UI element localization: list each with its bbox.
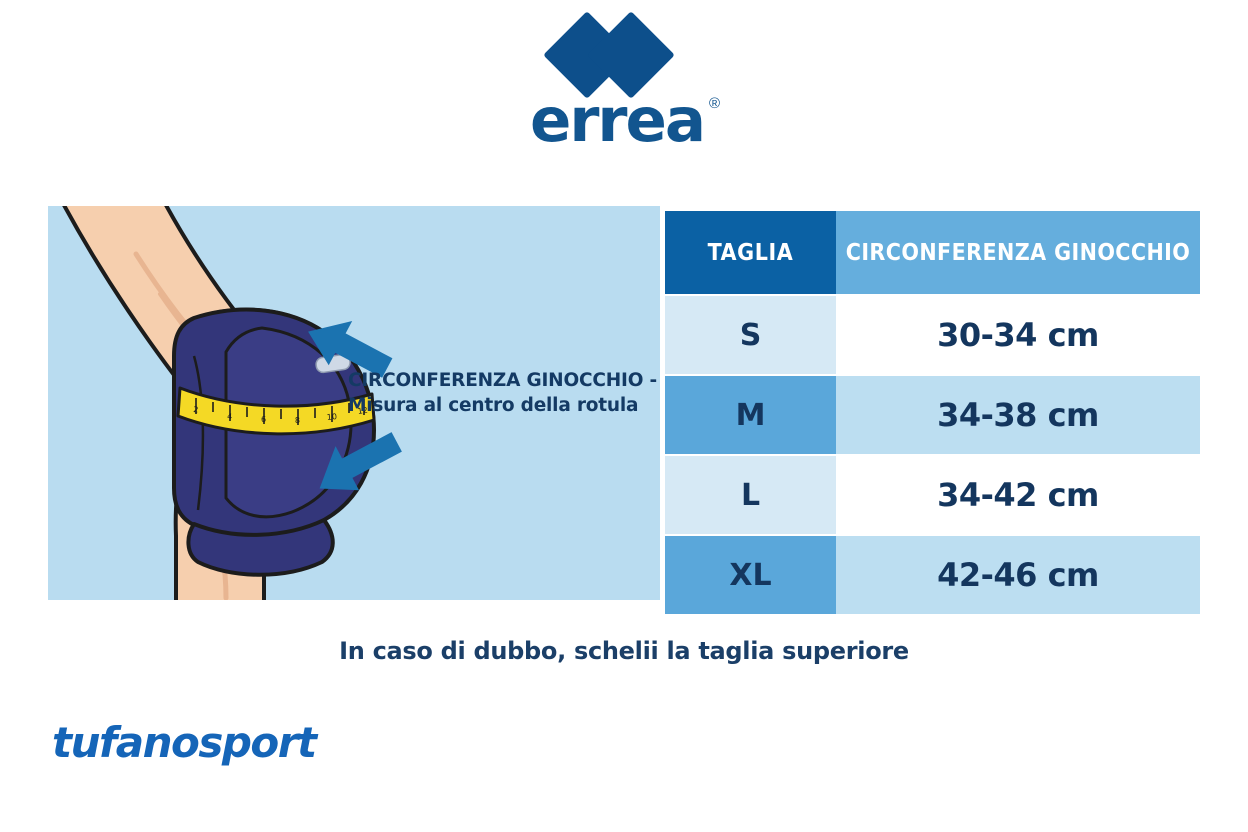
cell-size-xl: XL	[665, 536, 836, 614]
size-chart-table: TAGLIA CIRCONFERENZA GINOCCHIO S 30-34 c…	[665, 209, 1200, 616]
brand-wordmark: errea®	[530, 90, 718, 151]
header-cell-size: TAGLIA	[665, 211, 836, 294]
cell-size-s: S	[665, 296, 836, 374]
callout-line-1: CIRCONFERENZA GINOCCHIO -	[348, 368, 658, 393]
errea-double-diamond-icon	[544, 24, 704, 86]
cell-value-m: 34-38 cm	[836, 376, 1200, 454]
cell-value-s: 30-34 cm	[836, 296, 1200, 374]
sizing-advice-note: In caso di dubbo, schelii la taglia supe…	[0, 637, 1248, 665]
shop-brand-logo: tufanosport	[52, 718, 316, 767]
svg-text:6: 6	[261, 415, 266, 424]
table-header-row: TAGLIA CIRCONFERENZA GINOCCHIO	[665, 211, 1200, 294]
table-row: M 34-38 cm	[665, 376, 1200, 454]
svg-text:2: 2	[193, 405, 199, 414]
cell-size-l: L	[665, 456, 836, 534]
callout-line-2: Misura al centro della rotula	[348, 393, 658, 418]
brand-header: errea®	[0, 24, 1248, 151]
svg-text:10: 10	[326, 412, 337, 422]
table-row: XL 42-46 cm	[665, 536, 1200, 614]
cell-size-m: M	[665, 376, 836, 454]
header-cell-value: CIRCONFERENZA GINOCCHIO	[836, 211, 1200, 294]
cell-value-l: 34-42 cm	[836, 456, 1200, 534]
registered-trademark-icon: ®	[709, 96, 718, 111]
table-row: L 34-42 cm	[665, 456, 1200, 534]
brand-wordmark-text: errea	[530, 85, 704, 156]
table-row: S 30-34 cm	[665, 296, 1200, 374]
cell-value-xl: 42-46 cm	[836, 536, 1200, 614]
svg-text:8: 8	[295, 416, 300, 425]
svg-text:4: 4	[227, 412, 233, 421]
measurement-callout: CIRCONFERENZA GINOCCHIO - Misura al cent…	[348, 368, 658, 418]
